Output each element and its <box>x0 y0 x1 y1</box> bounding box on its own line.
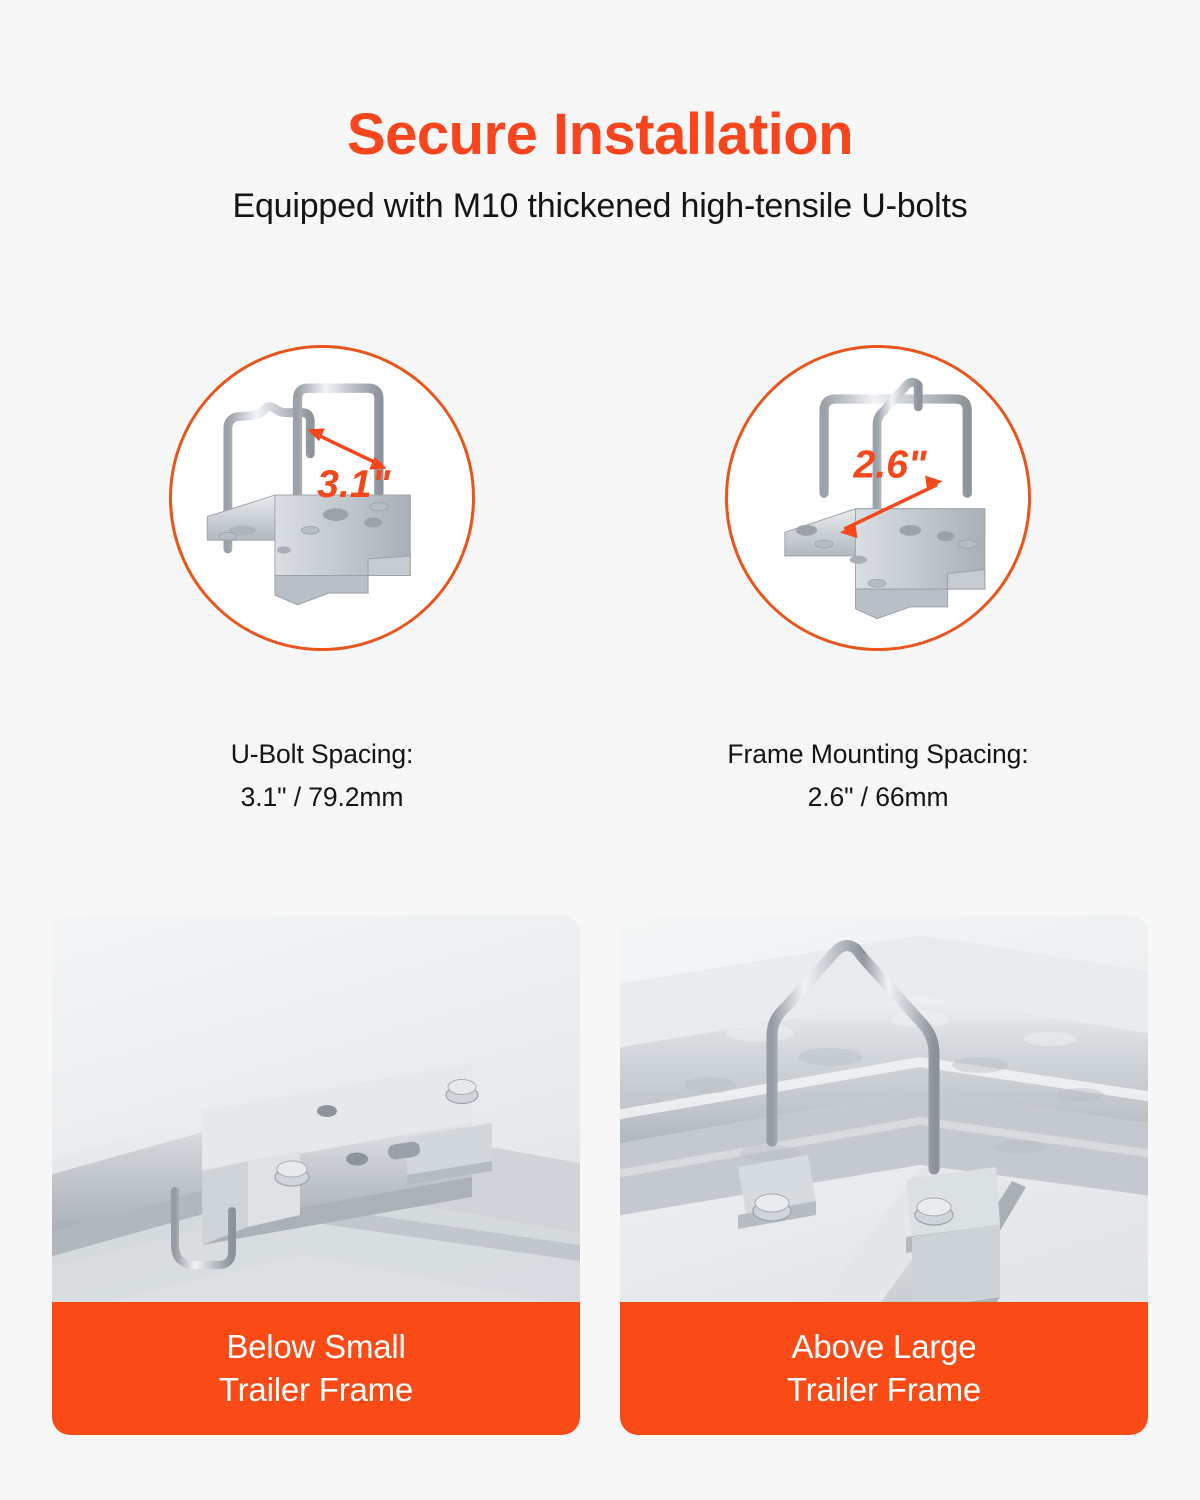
dimension-label-2-6: 2.6" <box>852 443 926 486</box>
photo-label-above-large-trailer-frame: Above Large Trailer Frame <box>620 1302 1148 1435</box>
u-bolt-spacing-caption: U-Bolt Spacing: 3.1" / 79.2mm <box>231 733 414 819</box>
photo-label-below-small-trailer-frame: Below Small Trailer Frame <box>52 1302 580 1435</box>
photo-label-line1: Below Small <box>226 1326 405 1368</box>
u-bolt-bracket-vee-icon: 2.6" <box>728 348 1028 648</box>
caption-value: 2.6" / 66mm <box>727 776 1028 819</box>
caption-value: 3.1" / 79.2mm <box>231 776 414 819</box>
header: Secure Installation Equipped with M10 th… <box>0 0 1200 227</box>
spec-column-frame-mounting-spacing: 2.6" Frame Mounting Spacing: 2.6" / 66mm <box>725 345 1031 819</box>
photo-card-below-small-trailer-frame: Below Small Trailer Frame <box>52 915 580 1435</box>
spec-column-u-bolt-spacing: 3.1" U-Bolt Spacing: 3.1" / 79.2mm <box>169 345 475 819</box>
photo-label-line1: Above Large <box>792 1326 977 1368</box>
caption-label: Frame Mounting Spacing: <box>727 739 1028 769</box>
photo-label-line2: Trailer Frame <box>787 1369 981 1411</box>
frame-mounting-spacing-caption: Frame Mounting Spacing: 2.6" / 66mm <box>727 733 1028 819</box>
page-title: Secure Installation <box>0 104 1200 165</box>
photo-row: Below Small Trailer Frame <box>52 915 1148 1435</box>
caption-label: U-Bolt Spacing: <box>231 739 414 769</box>
photo-card-above-large-trailer-frame: Above Large Trailer Frame <box>620 915 1148 1435</box>
page-subtitle: Equipped with M10 thickened high-tensile… <box>0 187 1200 226</box>
photo-label-line2: Trailer Frame <box>219 1369 413 1411</box>
dimension-label-3-1: 3.1" <box>317 463 390 506</box>
u-bolt-bracket-square-icon: 3.1" <box>172 348 472 648</box>
spec-row: 3.1" U-Bolt Spacing: 3.1" / 79.2mm <box>0 345 1200 819</box>
u-bolt-spacing-diagram: 3.1" <box>169 345 475 651</box>
frame-mounting-spacing-diagram: 2.6" <box>725 345 1031 651</box>
